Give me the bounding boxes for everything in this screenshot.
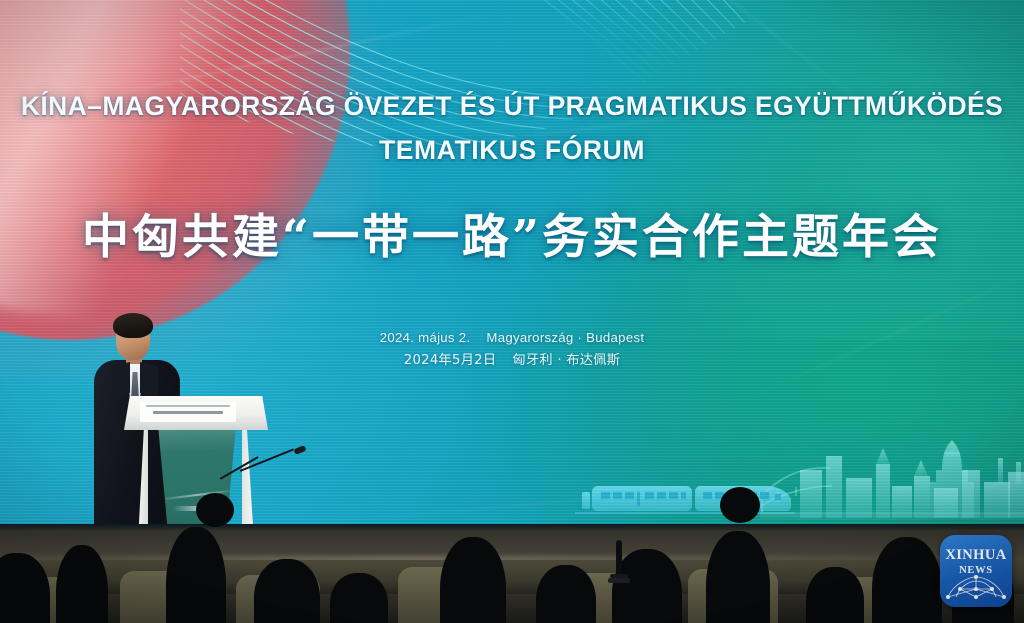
xinhua-news-watermark: XINHUA NEWS [940,535,1012,607]
network-constellation-icon [940,573,1012,603]
podium-frame-right [242,426,254,528]
backdrop-title-hungarian: KÍNA–MAGYARORSZÁG ÖVEZET ÉS ÚT PRAGMATIK… [0,84,1024,172]
front-desk-bar [0,560,1024,594]
place-hungarian: Magyarország · Budapest [486,330,644,345]
xinhua-brand-text: XINHUA [940,547,1012,564]
podium-sign-line-main [153,411,223,414]
backdrop-title-chinese: 中匈共建“一带一路”务实合作主题年会 [0,198,1024,267]
podium-sign [140,402,236,422]
podium-frame-left [138,426,148,528]
title-hu-line2: TEMATIKUS FÓRUM [0,128,1024,172]
podium-logo-mark [172,506,222,511]
podium-lectern [124,396,268,528]
table-microphone-icon [606,540,632,600]
podium-sign-line-upper [146,405,230,407]
stage-backdrop-screen: KÍNA–MAGYARORSZÁG ÖVEZET ÉS ÚT PRAGMATIK… [0,0,1024,528]
screenshot-root: KÍNA–MAGYARORSZÁG ÖVEZET ÉS ÚT PRAGMATIK… [0,0,1024,623]
date-hungarian: 2024. május 2. [380,330,471,345]
place-chinese: 匈牙利 · 布达佩斯 [512,353,620,368]
date-chinese: 2024年5月2日 [404,353,497,368]
stage-floor-edge [0,524,1024,530]
podium-and-speaker [88,300,268,528]
speaker-hair [113,313,153,338]
title-hu-line1: KÍNA–MAGYARORSZÁG ÖVEZET ÉS ÚT PRAGMATIK… [0,84,1024,128]
podium-front-panel [146,428,248,528]
